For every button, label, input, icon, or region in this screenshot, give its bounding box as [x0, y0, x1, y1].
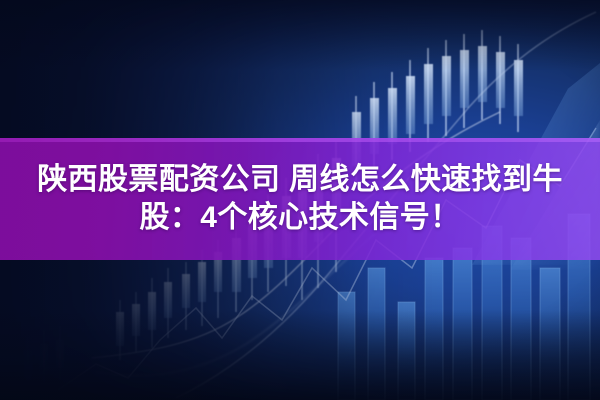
headline-banner: 陕西股票配资公司 周线怎么快速找到牛股：4个核心技术信号！: [0, 138, 600, 260]
headline-text: 陕西股票配资公司 周线怎么快速找到牛股：4个核心技术信号！: [12, 161, 588, 238]
banner-image: 陕西股票配资公司 周线怎么快速找到牛股：4个核心技术信号！: [0, 0, 600, 400]
banner-top-glow: [0, 138, 600, 142]
